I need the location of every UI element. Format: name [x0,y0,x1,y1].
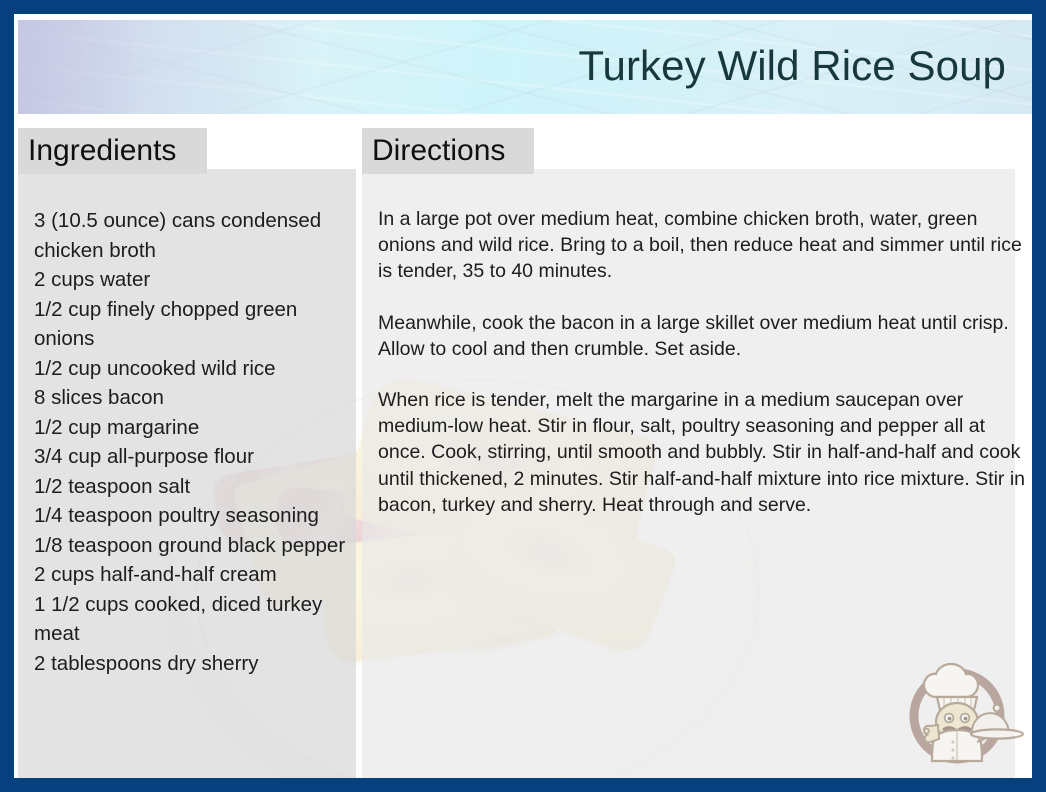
recipe-card: Turkey Wild Rice Soup [0,0,1046,792]
title-banner: Turkey Wild Rice Soup [18,20,1032,114]
page-title: Turkey Wild Rice Soup [578,45,1006,87]
list-item: 2 cups water [34,265,354,295]
directions-paragraph: In a large pot over medium heat, combine… [378,206,1028,285]
list-item: 1/2 cup uncooked wild rice [34,354,354,384]
section-header-ingredients: Ingredients [18,128,207,174]
chef-with-cloche-logo [902,650,1024,768]
card-inner-surface: Turkey Wild Rice Soup [14,14,1032,778]
list-item: 1/2 cup finely chopped green onions [34,295,354,354]
section-header-directions: Directions [362,128,534,174]
ingredients-tab-label: Ingredients [18,136,176,166]
list-item: 2 cups half-and-half cream [34,560,354,590]
list-item: 8 slices bacon [34,383,354,413]
directions-body: In a large pot over medium heat, combine… [378,206,1028,518]
list-item: 1 1/2 cups cooked, diced turkey meat [34,590,354,649]
directions-paragraph: Meanwhile, cook the bacon in a large ski… [378,310,1028,362]
list-item: 1/4 teaspoon poultry seasoning [34,501,354,531]
directions-paragraph: When rice is tender, melt the margarine … [378,387,1028,518]
banner-gradient-overlay [18,20,308,114]
ingredients-list: 3 (10.5 ounce) cans condensed chicken br… [34,206,354,678]
directions-tab-label: Directions [362,136,505,166]
list-item: 1/2 teaspoon salt [34,472,354,502]
list-item: 1/8 teaspoon ground black pepper [34,531,354,561]
list-item: 1/2 cup margarine [34,413,354,443]
list-item: 3/4 cup all-purpose flour [34,442,354,472]
list-item: 3 (10.5 ounce) cans condensed chicken br… [34,206,354,265]
list-item: 2 tablespoons dry sherry [34,649,354,679]
